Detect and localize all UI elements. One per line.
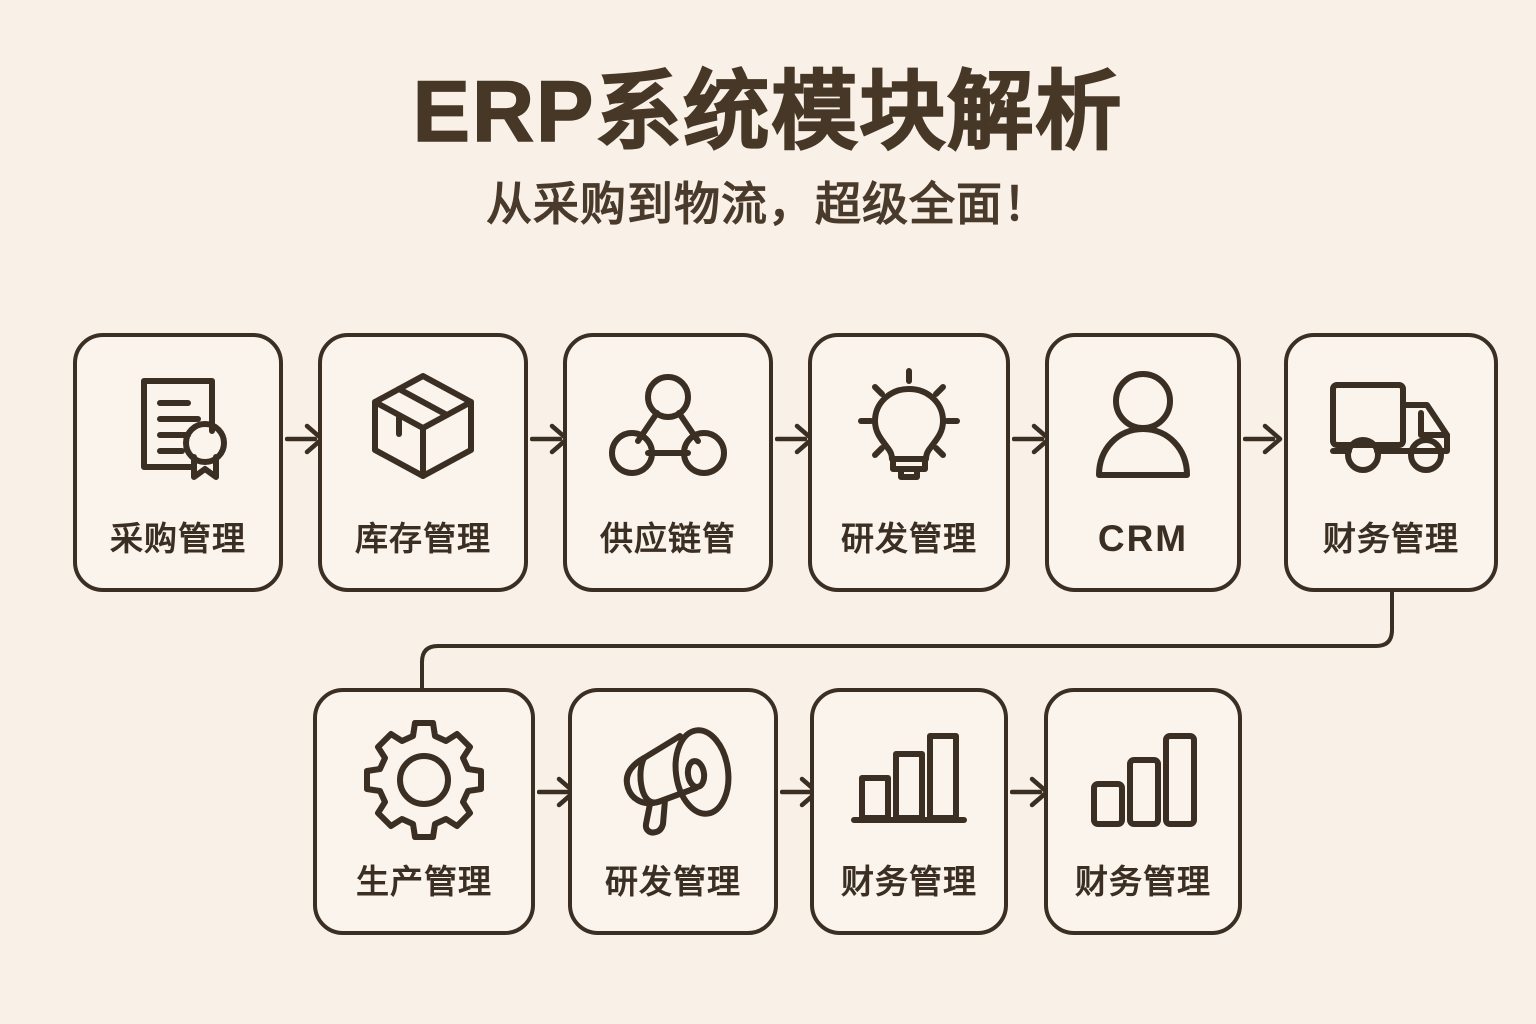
- flow-card-finance-logistics[interactable]: 财务管理: [1284, 333, 1498, 592]
- flow-card-label: 采购管理: [77, 512, 279, 560]
- flow-card-supply-chain[interactable]: 供应链管: [563, 333, 773, 592]
- flow-card-marketing[interactable]: 研发管理: [568, 688, 778, 935]
- delivery-truck-icon: [1321, 363, 1461, 487]
- page-subtitle: 从采购到物流，超级全面！: [0, 178, 1536, 231]
- flow-card-label: 财务管理: [1288, 512, 1494, 560]
- infographic-canvas: ERP系统模块解析 从采购到物流，超级全面！ 采购管理: [0, 0, 1536, 1024]
- person-icon: [1073, 363, 1213, 487]
- bar-chart-icon: [839, 718, 979, 842]
- flow-card-label: 库存管理: [322, 512, 524, 560]
- flow-card-inventory[interactable]: 库存管理: [318, 333, 528, 592]
- flow-card-label: 财务管理: [814, 855, 1004, 903]
- flow-card-label: 生产管理: [317, 855, 531, 903]
- flow-card-label: 研发管理: [572, 855, 774, 903]
- flow-card-production[interactable]: 生产管理: [313, 688, 535, 935]
- header: ERP系统模块解析 从采购到物流，超级全面！: [0, 64, 1536, 231]
- network-nodes-icon: [598, 363, 738, 487]
- gear-icon: [354, 718, 494, 842]
- flow-card-label: 财务管理: [1048, 855, 1238, 903]
- flow-card-procurement[interactable]: 采购管理: [73, 333, 283, 592]
- flow-card-crm[interactable]: CRM: [1045, 333, 1241, 592]
- box-package-icon: [353, 363, 493, 487]
- document-certificate-icon: [108, 363, 248, 487]
- lightbulb-icon: [839, 363, 979, 487]
- flow-card-label: 供应链管: [567, 512, 769, 560]
- arrow-right-icon: [1243, 419, 1289, 459]
- flow-card-label: CRM: [1049, 518, 1237, 560]
- megaphone-icon: [603, 718, 743, 842]
- flow-card-label: 研发管理: [812, 512, 1006, 560]
- flow-card-finance-analytics[interactable]: 财务管理: [1044, 688, 1242, 935]
- flow-card-rnd[interactable]: 研发管理: [808, 333, 1010, 592]
- bar-chart-bars-icon: [1073, 718, 1213, 842]
- page-title: ERP系统模块解析: [0, 64, 1536, 160]
- flow-card-finance-report[interactable]: 财务管理: [810, 688, 1008, 935]
